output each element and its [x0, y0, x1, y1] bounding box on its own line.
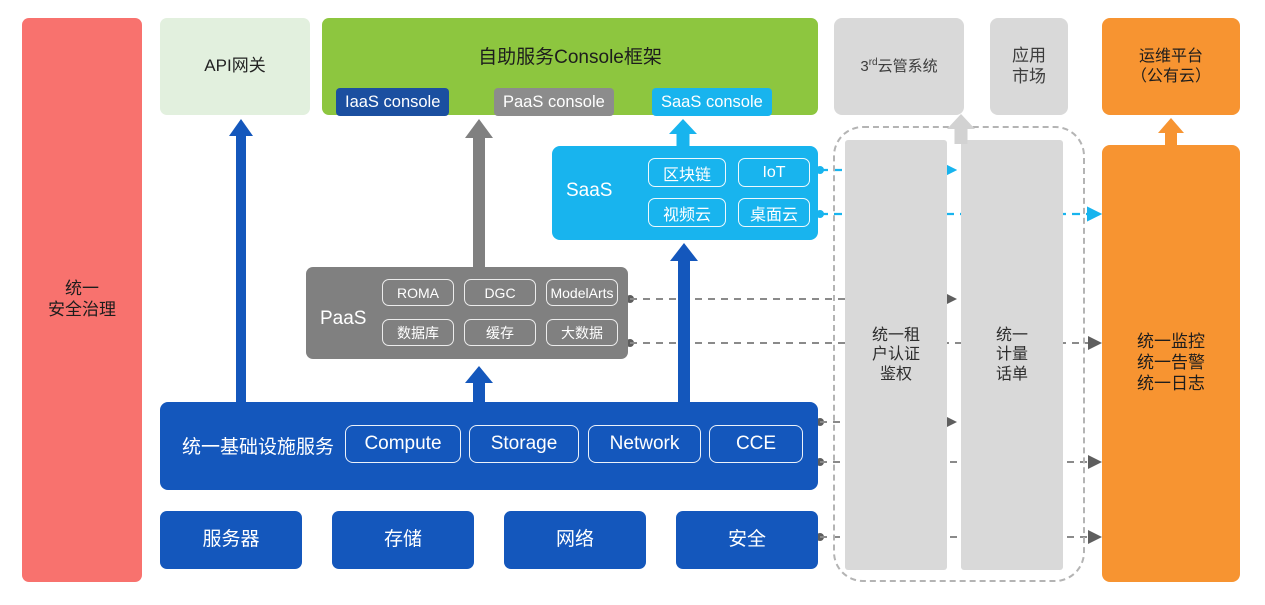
- ops-platform-box[interactable]: 运维平台 （公有云）: [1102, 18, 1240, 115]
- arrow-up-icon-shared-to-third-party: [947, 114, 975, 144]
- arrow-up-icon-ops-monitor-to-ops-platform: [1157, 118, 1185, 147]
- metering-billing-label: 统一 计量 话单: [996, 326, 1028, 385]
- api-gateway-box[interactable]: API网关: [160, 18, 310, 115]
- unified-infrastructure-title: 统一基础设施服务: [182, 432, 334, 459]
- paas-panel[interactable]: PaaS ROMA DGC ModelArts 数据库 缓存 大数据: [306, 267, 628, 359]
- console-framework-title: 自助服务Console框架: [322, 42, 818, 69]
- ops-monitor-label: 统一监控 统一告警 统一日志: [1137, 332, 1205, 394]
- saas-panel[interactable]: SaaS 区块链 IoT 视频云 桌面云: [552, 146, 818, 240]
- hardware-box-network[interactable]: 网络: [504, 511, 646, 569]
- paas-panel-title: PaaS: [320, 308, 366, 330]
- paas-chip-modelarts[interactable]: ModelArts: [546, 279, 618, 306]
- security-governance-panel[interactable]: 统一 安全治理: [22, 18, 142, 582]
- arrow-up-icon-saas-to-console: [669, 119, 697, 149]
- third-party-cloud-label: 3rd云管系统: [860, 57, 937, 76]
- arrow-up-icon-infra-to-paas: [465, 366, 493, 404]
- arrow-up-icon-infra-to-saas: [670, 243, 698, 404]
- paas-chip-cache[interactable]: 缓存: [464, 319, 536, 346]
- app-market-label: 应用 市场: [1012, 46, 1046, 87]
- hardware-security-label: 安全: [728, 528, 766, 551]
- hardware-network-label: 网络: [556, 528, 594, 551]
- paas-chip-dgc[interactable]: DGC: [464, 279, 536, 306]
- third-party-cloud-mgmt-box[interactable]: 3rd云管系统: [834, 18, 964, 115]
- infra-chip-compute[interactable]: Compute: [345, 425, 461, 463]
- saas-panel-title: SaaS: [566, 180, 612, 202]
- hardware-box-storage[interactable]: 存储: [332, 511, 474, 569]
- arrow-up-icon-infra-to-api-gateway: [228, 119, 254, 404]
- architecture-diagram: 统一 安全治理 API网关 自助服务Console框架 IaaS console…: [0, 0, 1265, 605]
- tenant-auth-column[interactable]: 统一租 户认证 鉴权: [845, 140, 947, 570]
- api-gateway-label: API网关: [204, 56, 265, 77]
- paas-console-chip[interactable]: PaaS console: [494, 88, 614, 116]
- saas-chip-blockchain[interactable]: 区块链: [648, 158, 726, 187]
- saas-chip-desktop-cloud[interactable]: 桌面云: [738, 198, 810, 227]
- ops-platform-label: 运维平台 （公有云）: [1131, 47, 1211, 86]
- saas-chip-iot[interactable]: IoT: [738, 158, 810, 187]
- security-governance-label: 统一 安全治理: [48, 279, 116, 320]
- arrow-up-icon-paas-to-console: [465, 119, 493, 269]
- paas-chip-database[interactable]: 数据库: [382, 319, 454, 346]
- paas-chip-bigdata[interactable]: 大数据: [546, 319, 618, 346]
- hardware-server-label: 服务器: [202, 528, 259, 551]
- iaas-console-chip[interactable]: IaaS console: [336, 88, 449, 116]
- infra-chip-network[interactable]: Network: [588, 425, 701, 463]
- infra-chip-cce[interactable]: CCE: [709, 425, 803, 463]
- ops-monitor-panel[interactable]: 统一监控 统一告警 统一日志: [1102, 145, 1240, 582]
- paas-chip-roma[interactable]: ROMA: [382, 279, 454, 306]
- saas-chip-video-cloud[interactable]: 视频云: [648, 198, 726, 227]
- hardware-storage-label: 存储: [384, 528, 422, 551]
- tenant-auth-label: 统一租 户认证 鉴权: [872, 326, 920, 385]
- unified-infrastructure-panel[interactable]: 统一基础设施服务 Compute Storage Network CCE: [160, 402, 818, 490]
- hardware-box-server[interactable]: 服务器: [160, 511, 302, 569]
- metering-billing-column[interactable]: 统一 计量 话单: [961, 140, 1063, 570]
- console-framework-panel[interactable]: 自助服务Console框架 IaaS console PaaS console …: [322, 18, 818, 115]
- infra-chip-storage[interactable]: Storage: [469, 425, 579, 463]
- saas-console-chip[interactable]: SaaS console: [652, 88, 772, 116]
- hardware-box-security[interactable]: 安全: [676, 511, 818, 569]
- app-market-box[interactable]: 应用 市场: [990, 18, 1068, 115]
